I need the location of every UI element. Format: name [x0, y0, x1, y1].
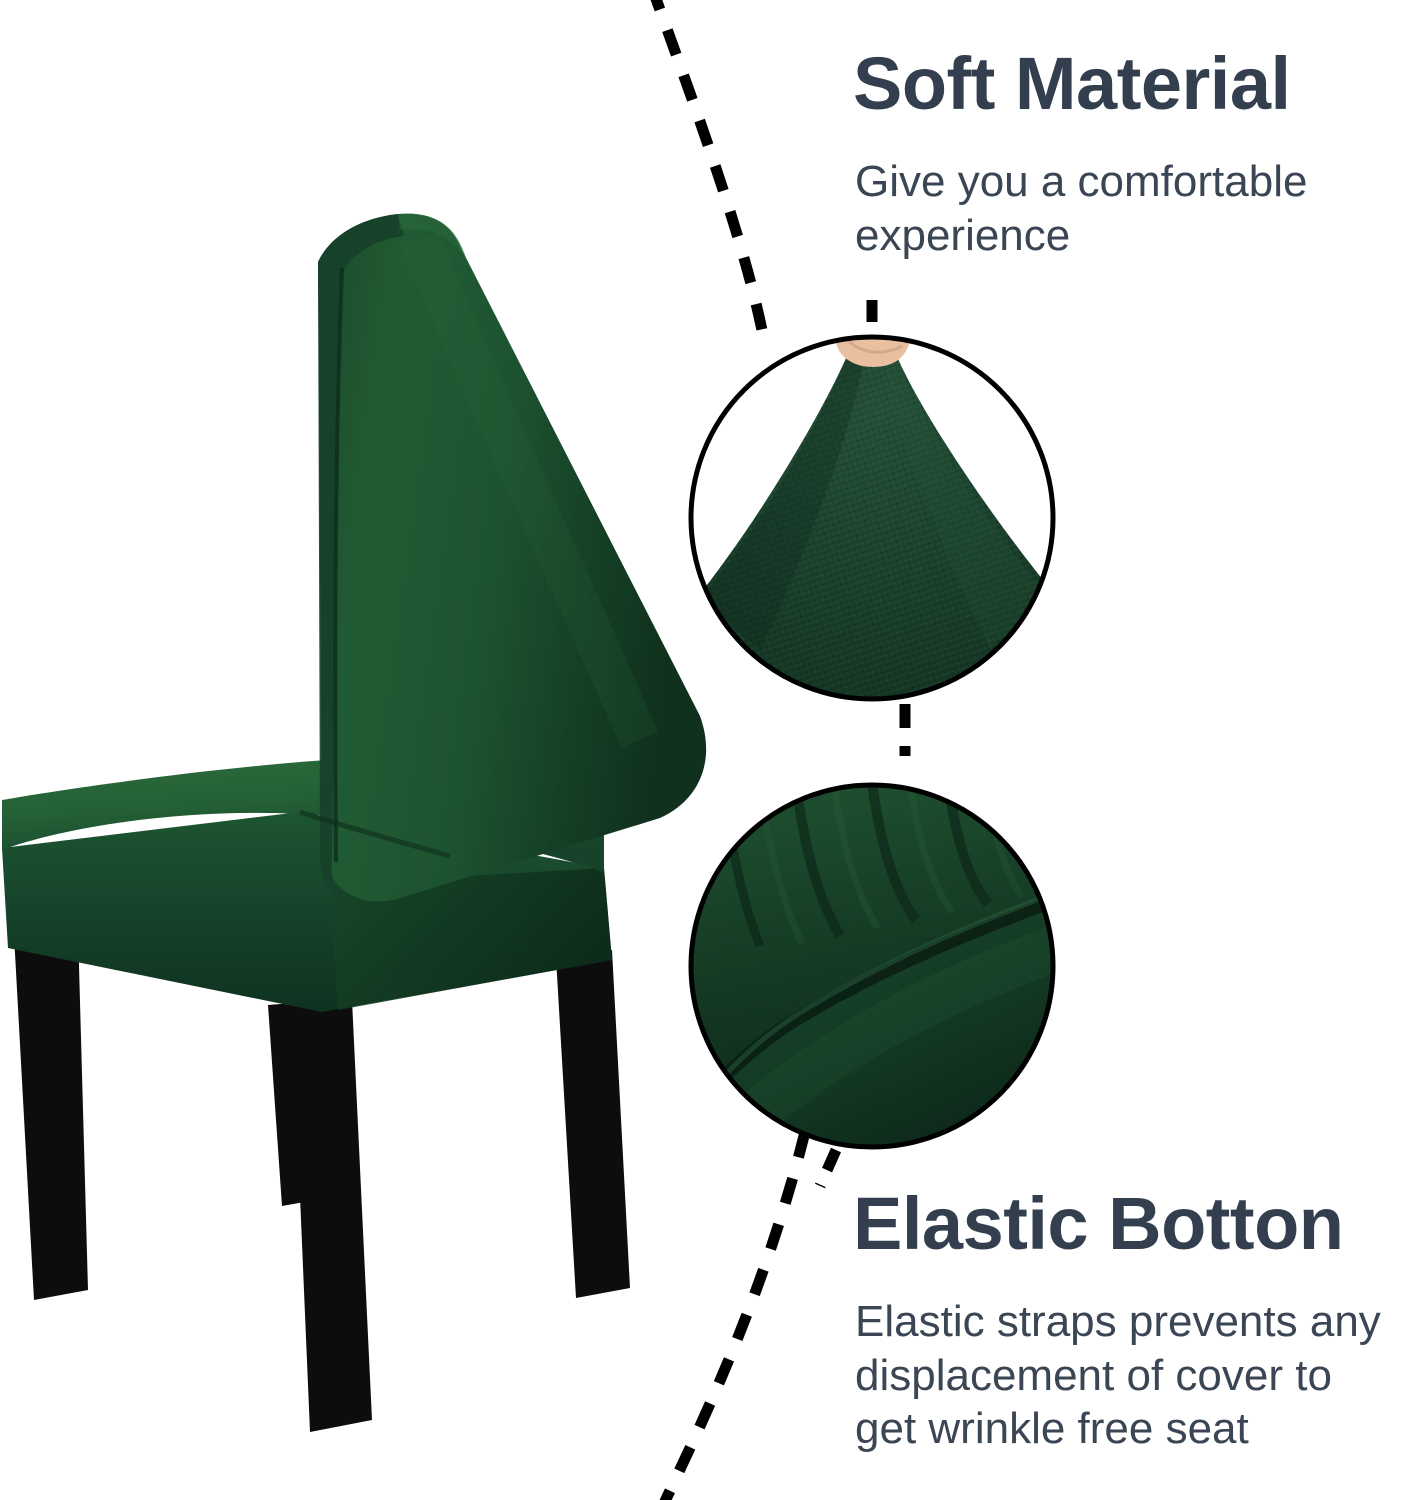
- description-line: displacement of cover to: [855, 1349, 1395, 1403]
- chair-back: [318, 214, 706, 902]
- infographic-page: Soft Material Give you a comfortable exp…: [0, 0, 1428, 1500]
- feature-description-soft-material: Give you a comfortable experience: [855, 155, 1375, 262]
- description-line: experience: [855, 209, 1375, 263]
- description-line: get wrinkle free seat: [855, 1402, 1395, 1456]
- feature-description-elastic-bottom: Elastic straps prevents any displacement…: [855, 1295, 1395, 1456]
- feature-title-soft-material: Soft Material: [853, 46, 1291, 121]
- chair-illustration: [2, 214, 706, 1432]
- callout-elastic-hem: [688, 782, 1058, 1152]
- description-line: Elastic straps prevents any: [855, 1295, 1395, 1349]
- callout-fabric-pinch: [688, 305, 1058, 706]
- feature-title-elastic-bottom: Elastic Botton: [853, 1186, 1343, 1261]
- description-line: Give you a comfortable: [855, 155, 1375, 209]
